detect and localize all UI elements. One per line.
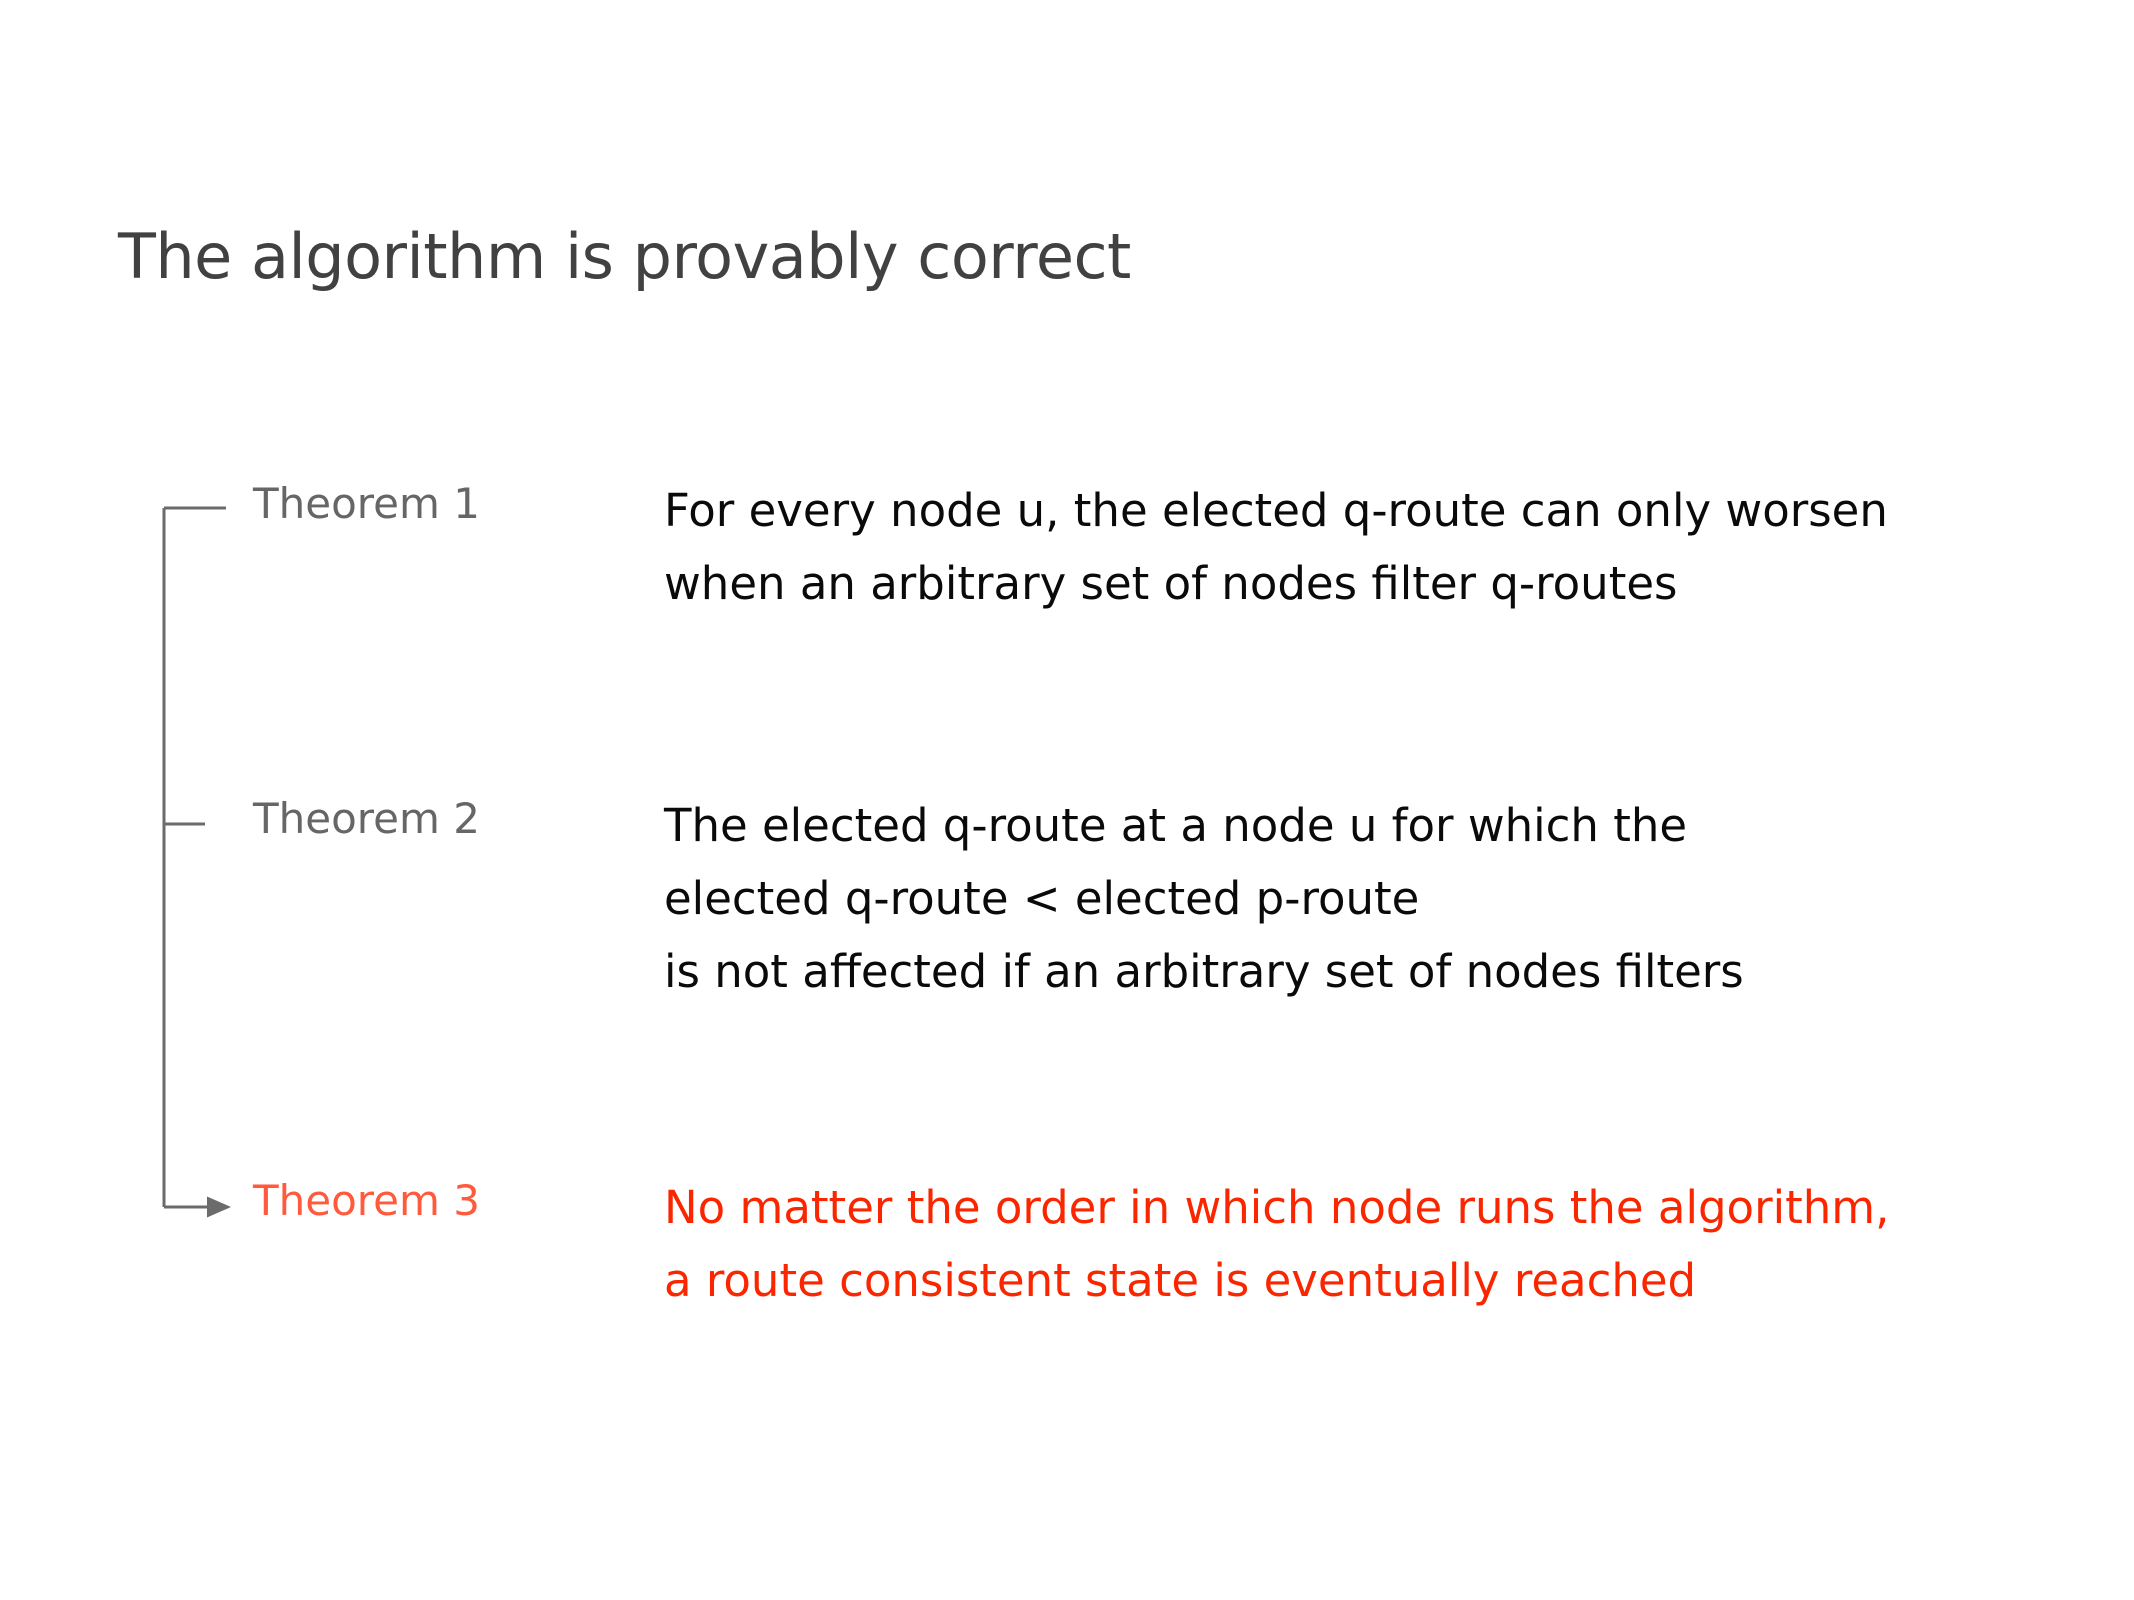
theorem-body-line: The elected q-route at a node u for whic… — [664, 790, 1744, 863]
theorem-body-line: is not affected if an arbitrary set of n… — [664, 936, 1744, 1009]
theorem-body-2: The elected q-route at a node u for whic… — [664, 790, 1744, 1009]
theorem-body-line: when an arbitrary set of nodes filter q-… — [664, 548, 1888, 621]
theorem-body-line: elected q-route < elected p-route — [664, 863, 1744, 936]
theorem-body-line: a route consistent state is eventually r… — [664, 1245, 1889, 1318]
theorem-label-1: Theorem 1 — [253, 483, 480, 525]
theorem-label-3: Theorem 3 — [253, 1180, 480, 1222]
theorem-body-3: No matter the order in which node runs t… — [664, 1172, 1889, 1318]
theorem-body-1: For every node u, the elected q-route ca… — [664, 475, 1888, 621]
page-title: The algorithm is provably correct — [118, 224, 1131, 289]
theorem-label-2: Theorem 2 — [253, 798, 480, 840]
theorem-body-line: For every node u, the elected q-route ca… — [664, 475, 1888, 548]
slide-canvas: The algorithm is provably correct Theore… — [0, 0, 2134, 1600]
theorem-body-line: No matter the order in which node runs t… — [664, 1172, 1889, 1245]
